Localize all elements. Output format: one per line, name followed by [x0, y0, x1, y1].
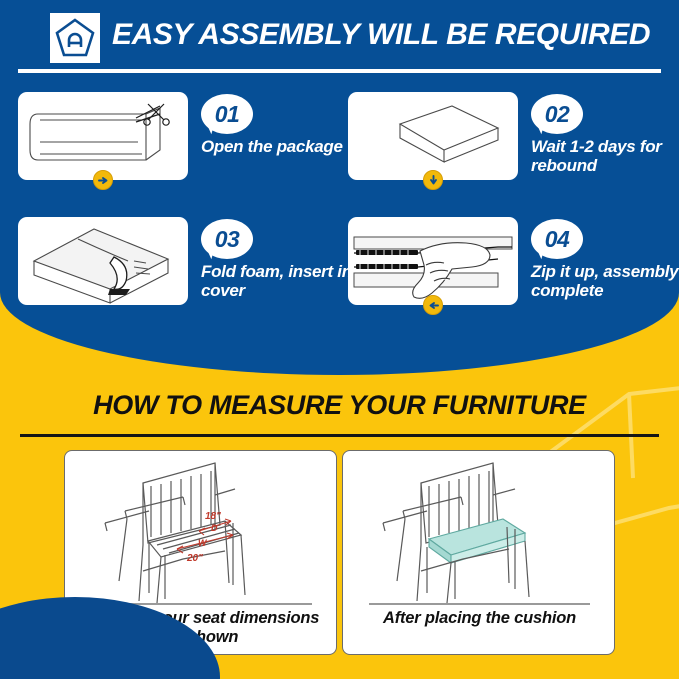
section-divider	[20, 434, 659, 437]
header: EASY ASSEMBLY WILL BE REQUIRED	[0, 0, 679, 80]
caption-divider	[369, 603, 590, 605]
measure-section: HOW TO MEASURE YOUR FURNITURE	[0, 330, 679, 679]
card-caption: After placing the cushion	[351, 609, 608, 628]
chair-with-dimensions-icon: 18" D W 20"	[65, 453, 337, 605]
dimension-width-value: 20"	[186, 553, 203, 564]
measure-card-cushion: After placing the cushion	[342, 450, 615, 655]
dimension-depth-letter: D	[211, 523, 218, 533]
house-pentagon-logo-icon	[50, 13, 100, 63]
header-divider	[18, 69, 661, 73]
step-number: 01	[201, 94, 253, 134]
foam-folding-into-cover-icon	[18, 217, 188, 305]
step-number-badge: 04	[531, 219, 583, 259]
rolled-package-with-scissors-icon	[18, 92, 188, 180]
arrow-right-icon	[93, 170, 113, 190]
header-title: EASY ASSEMBLY WILL BE REQUIRED	[112, 18, 650, 52]
arrow-down-icon	[423, 170, 443, 190]
step-illustration-card	[348, 217, 518, 305]
hand-zipping-cushion-icon	[348, 217, 518, 305]
section-title: HOW TO MEASURE YOUR FURNITURE	[0, 390, 679, 421]
chair-with-cushion-icon	[343, 453, 615, 605]
step-number-badge: 01	[201, 94, 253, 134]
step-number-badge: 03	[201, 219, 253, 259]
step-number: 02	[531, 94, 583, 134]
step-illustration-card	[348, 92, 518, 180]
step-label: Zip it up, assembly complete	[531, 262, 679, 300]
step-number: 03	[201, 219, 253, 259]
step-text: 04 Zip it up, assembly complete	[531, 219, 679, 300]
arrow-left-icon	[423, 295, 443, 315]
assembly-section: EASY ASSEMBLY WILL BE REQUIRED	[0, 0, 679, 375]
infographic-root: EASY ASSEMBLY WILL BE REQUIRED	[0, 0, 679, 679]
step-number-badge: 02	[531, 94, 583, 134]
dimension-depth-value: 18"	[205, 511, 221, 522]
step-text: 02 Wait 1-2 days for rebound	[531, 94, 679, 175]
flat-foam-slab-icon	[348, 92, 518, 180]
dimension-width-letter: W	[198, 538, 208, 548]
step-label: Wait 1-2 days for rebound	[531, 137, 679, 175]
step-illustration-card	[18, 92, 188, 180]
step-number: 04	[531, 219, 583, 259]
step-illustration-card	[18, 217, 188, 305]
